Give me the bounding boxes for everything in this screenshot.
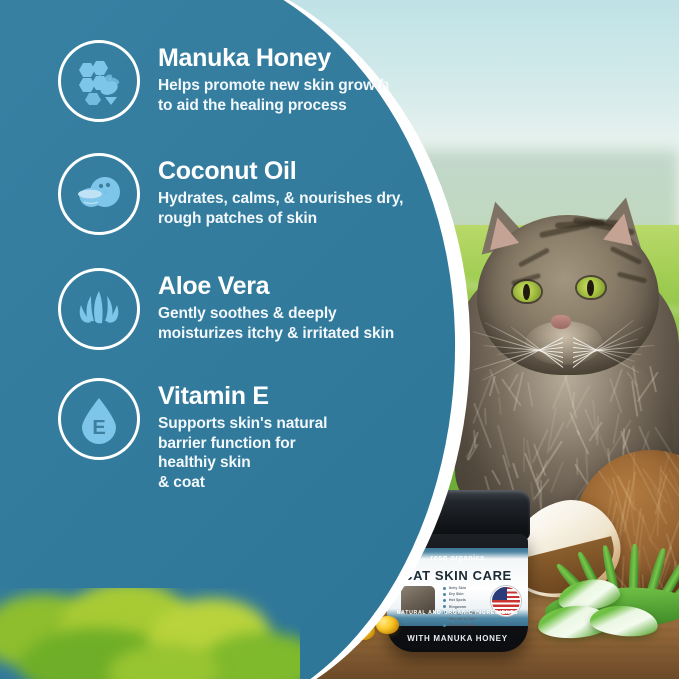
feature-title: Vitamin E [158,382,327,410]
feature-manuka-honey[interactable]: Manuka Honey Helps promote new skin grow… [58,40,389,122]
feature-title: Manuka Honey [158,44,389,72]
cat-eye-right [577,277,605,298]
cat-fur-strand [484,408,487,425]
svg-text:E: E [92,417,105,439]
feature-title: Coconut Oil [158,157,403,185]
cat-eye-left [513,281,541,302]
cat-nose [551,315,571,329]
coconut-icon [58,153,140,235]
feature-description: Gently soothes & deeply moisturizes itch… [158,304,394,343]
cat-fur-stripe [617,271,647,283]
vitamin-e-droplet-icon: E [58,378,140,460]
honeycomb-bee-icon [58,40,140,122]
ingredient-feature-list: Manuka Honey Helps promote new skin grow… [0,0,460,679]
feature-vitamin-e[interactable]: E Vitamin E Supports skin's natural barr… [58,378,327,492]
aloe-vera-icon [58,268,140,350]
coconut-fiber [633,451,636,505]
cat-inner-ear-right [603,210,639,246]
cat-fur-stripe [610,246,643,265]
feature-description: Supports skin's natural barrier function… [158,414,327,492]
cat-fur-stripe [518,247,550,267]
feature-aloe-vera[interactable]: Aloe Vera Gently soothes & deeply moistu… [58,268,394,350]
infographic-canvas: resq organics CAT SKIN CARE Itchy Skin D… [0,0,679,679]
feature-description: Helps promote new skin growth to aid the… [158,76,389,115]
cat-fur-strand [498,397,502,415]
feature-coconut-oil[interactable]: Coconut Oil Hydrates, calms, & nourishes… [58,153,403,235]
cat-fur-strand [527,382,533,407]
feature-description: Hydrates, calms, & nourishes dry, rough … [158,189,403,228]
feature-title: Aloe Vera [158,272,394,300]
